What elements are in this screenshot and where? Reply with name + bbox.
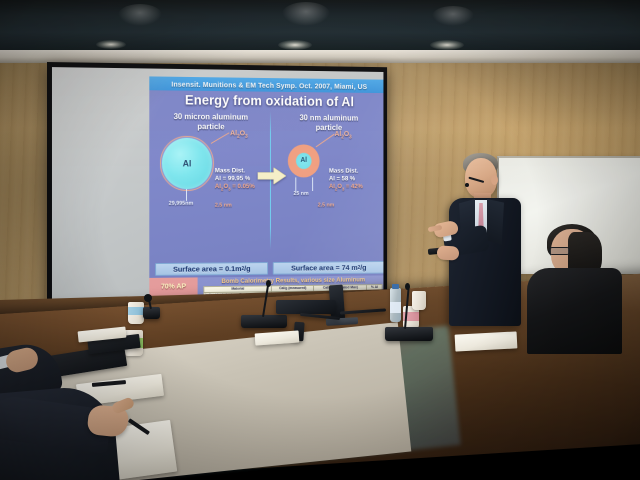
- headset-microphone-capsule-icon: [465, 183, 469, 187]
- ceiling-glare: [118, 4, 162, 26]
- mass-dist-metal: Al = 99.95 %: [215, 175, 255, 183]
- microphone-capsule: [405, 283, 410, 290]
- presenter-hand-holding-remote: [437, 245, 460, 261]
- eyeglasses-icon: [549, 247, 570, 255]
- bottle-label: [390, 302, 401, 313]
- shell-thickness-label: 2.5 nm: [318, 203, 335, 209]
- oxide-label: Al2O3: [335, 129, 352, 140]
- desk-microphone: [241, 315, 287, 328]
- downlight-icon: [96, 40, 126, 49]
- panel-caption-line1: 30 micron aluminum: [174, 112, 248, 121]
- bottle-cap: [392, 284, 399, 289]
- desk-microphone: [385, 327, 433, 341]
- callout-leader-line: [211, 132, 230, 144]
- mass-dist-oxide: Al2O3 = 42%: [329, 183, 363, 193]
- oxide-shell-ring: [160, 136, 213, 190]
- diameter-tick: [312, 177, 313, 191]
- attendee-torso: [527, 268, 622, 354]
- callout-leader-line: [316, 134, 335, 148]
- presenter-ear: [491, 175, 498, 185]
- microphone-capsule: [266, 280, 271, 287]
- panel-nano-particle: 30 nm aluminum particle Al Al2O3 Mass Di…: [273, 113, 384, 259]
- slide-content: Insensit. Munitions & EM Tech Symp. Oct.…: [149, 76, 383, 309]
- panel-caption-line1: 30 nm aluminum: [299, 113, 358, 122]
- mass-distribution-block: Mass Dist. Al = 99.95 % Al2O3 = 0.05%: [215, 167, 255, 193]
- panel-caption: 30 nm aluminum particle: [273, 113, 384, 132]
- screen-surface: Insensit. Munitions & EM Tech Symp. Oct.…: [52, 67, 383, 313]
- diameter-label: 29,995nm: [169, 201, 194, 207]
- document-sheets: [455, 331, 518, 351]
- water-bottle: [390, 288, 401, 322]
- panel-micron-particle: 30 micron aluminum particle Al Al2O3 Mas…: [153, 112, 268, 260]
- mass-distribution-block: Mass Dist. Al = 58 % Al2O3 = 42%: [329, 168, 363, 193]
- slide-header: Insensit. Munitions & EM Tech Symp. Oct.…: [149, 76, 383, 93]
- panel-caption: 30 micron aluminum particle: [153, 112, 268, 132]
- mass-dist-oxide: Al2O3 = 0.05%: [215, 183, 255, 193]
- downlight-icon: [278, 40, 312, 50]
- presenter-lapel-right: [487, 199, 504, 245]
- diameter-label: 25 nm: [293, 191, 308, 197]
- ceiling-trim: [0, 50, 640, 63]
- paper-cup: [412, 291, 426, 310]
- presentation-scene: Insensit. Munitions & EM Tech Symp. Oct.…: [0, 0, 640, 480]
- paper-cup: [128, 302, 144, 324]
- surface-area-nano: Surface area = 74 m2/g: [273, 261, 384, 275]
- shell-thickness-label: 2.5 nm: [215, 203, 232, 209]
- composition-item: 70% AP: [149, 277, 197, 293]
- aluminum-particle-large: Al: [162, 138, 212, 189]
- microphone-capsule: [144, 294, 152, 302]
- slide-title: Energy from oxidation of Al: [149, 92, 383, 109]
- cup-band: [128, 307, 144, 315]
- mass-dist-title: Mass Dist.: [329, 168, 363, 176]
- projection-screen: Insensit. Munitions & EM Tech Symp. Oct.…: [47, 62, 387, 319]
- control-unit: [276, 300, 336, 314]
- ceiling-glare: [432, 6, 474, 26]
- diameter-tick: [295, 177, 296, 191]
- ceiling-glare: [282, 2, 330, 26]
- core-label: Al: [300, 157, 307, 164]
- panel-caption-line2: particle: [197, 122, 224, 131]
- mass-dist-metal: Al = 58 %: [329, 176, 363, 184]
- mass-dist-title: Mass Dist.: [215, 167, 255, 175]
- surface-area-micron: Surface area = 0.1m2/g: [155, 262, 268, 276]
- aluminum-particle-nano: Al: [288, 144, 320, 177]
- downlight-icon: [430, 40, 464, 50]
- oxide-label: Al2O3: [230, 128, 248, 139]
- diameter-tick: [186, 189, 187, 201]
